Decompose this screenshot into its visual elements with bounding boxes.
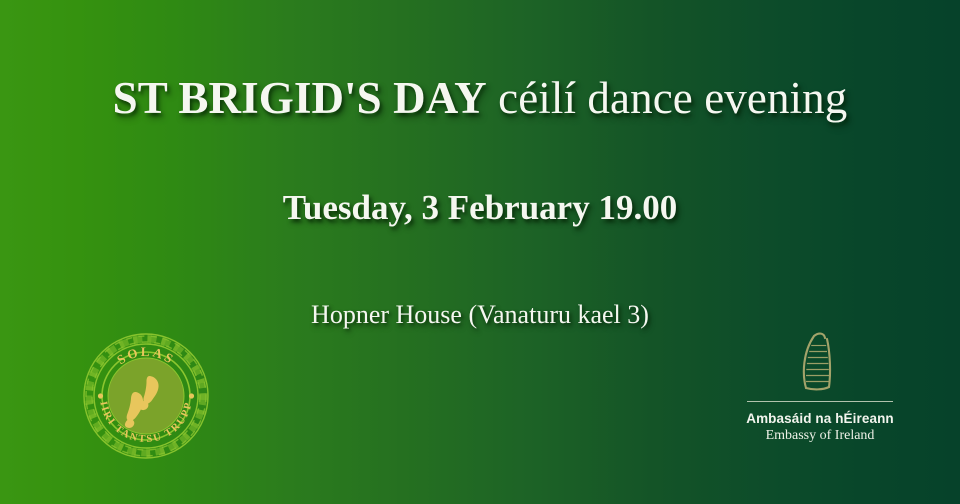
page-title: ST BRIGID'S DAY céilí dance evening bbox=[0, 72, 960, 124]
title-rest: céilí dance evening bbox=[487, 73, 848, 123]
event-poster: ST BRIGID'S DAY céilí dance evening Tues… bbox=[0, 0, 960, 504]
badge-dot-right bbox=[189, 393, 194, 398]
embassy-name-english: Embassy of Ireland bbox=[740, 428, 900, 444]
solas-troupe-logo: SOLAS IIRI TANTSU TRUPP bbox=[80, 330, 212, 462]
badge-dot-left bbox=[98, 393, 103, 398]
embassy-of-ireland-logo: Ambasáid na hÉireann Embassy of Ireland bbox=[740, 330, 900, 452]
irish-harp-icon bbox=[797, 330, 843, 392]
harp-icon-wrap bbox=[740, 330, 900, 392]
embassy-name-irish: Ambasáid na hÉireann bbox=[740, 411, 900, 426]
title-emphasis: ST BRIGID'S DAY bbox=[113, 73, 487, 123]
event-venue: Hopner House (Vanaturu kael 3) bbox=[0, 300, 960, 330]
event-date-time: Tuesday, 3 February 19.00 bbox=[0, 188, 960, 228]
embassy-divider bbox=[747, 401, 893, 402]
